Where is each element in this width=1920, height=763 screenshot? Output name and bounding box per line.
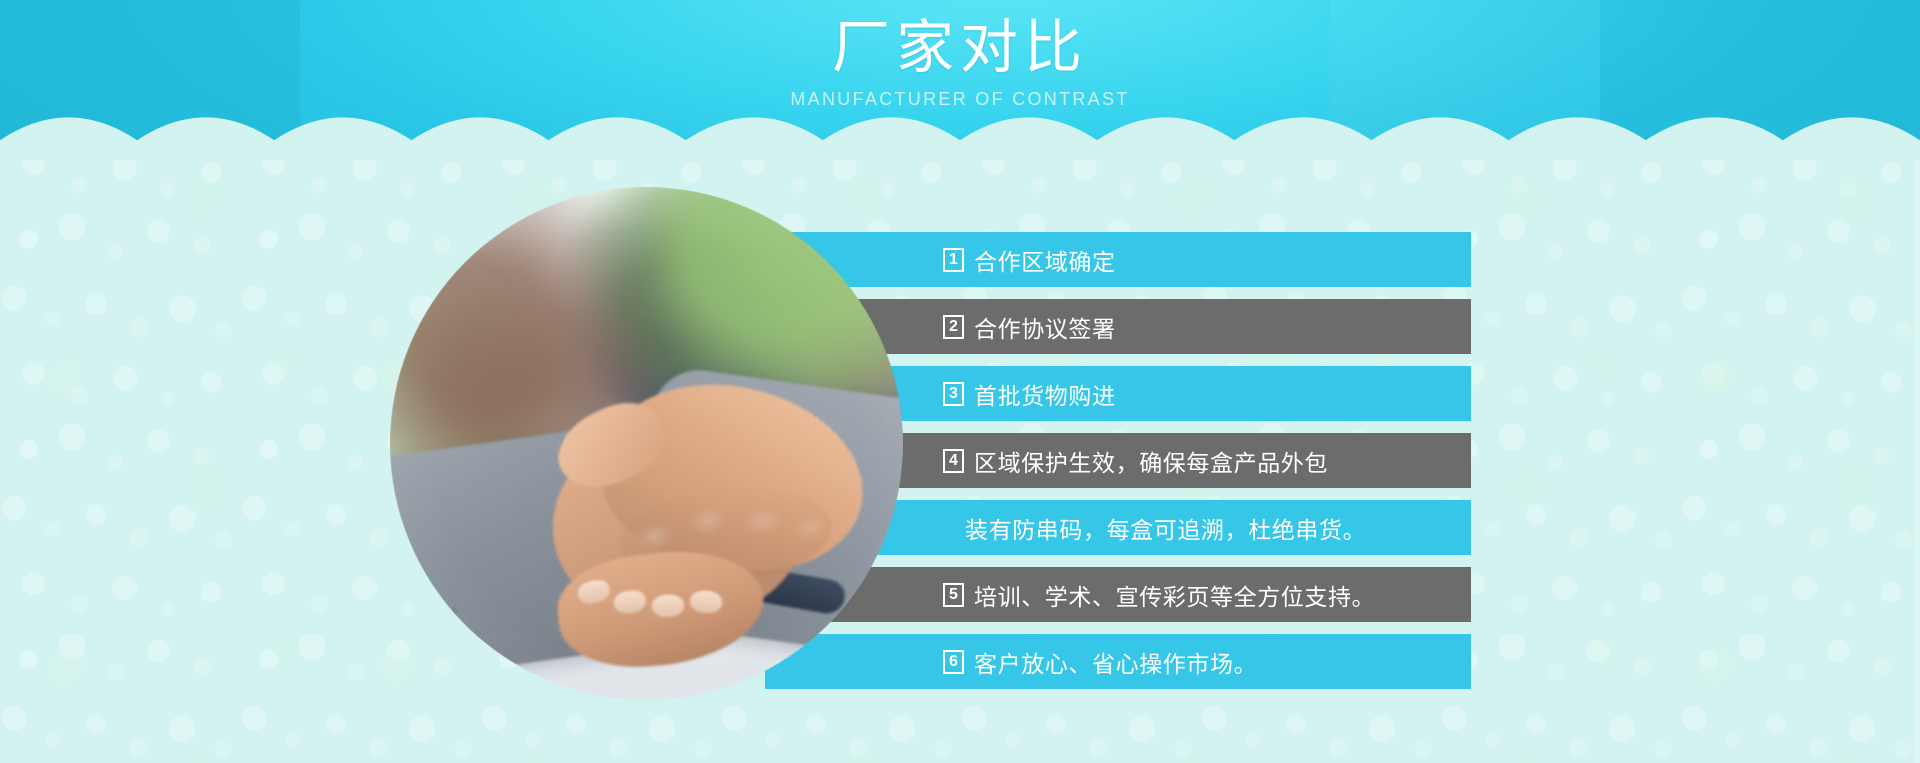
step-text: 培训、学术、宣传彩页等全方位支持。 <box>974 578 1375 612</box>
wave-divider <box>0 108 1920 160</box>
step-text: 合作协议签署 <box>974 310 1116 344</box>
right-edge-band <box>1914 148 1920 763</box>
step-text: 合作区域确定 <box>974 243 1116 277</box>
photo-vignette <box>390 187 903 700</box>
step-number-badge: 4 <box>943 449 964 473</box>
step-text: 装有防串码，每盒可追溯，杜绝串货。 <box>965 511 1366 545</box>
step-number-badge: 1 <box>943 248 964 272</box>
step-number-badge: 5 <box>943 583 964 607</box>
step-text: 客户放心、省心操作市场。 <box>974 645 1257 679</box>
step-text: 首批货物购进 <box>974 377 1116 411</box>
promo-banner-page: 厂家对比 MANUFACTURER OF CONTRAST <box>0 0 1920 763</box>
step-number-badge: 2 <box>943 315 964 339</box>
header-title-block: 厂家对比 MANUFACTURER OF CONTRAST <box>0 18 1920 110</box>
step-number-badge: 3 <box>943 382 964 406</box>
step-number-badge: 6 <box>943 650 964 674</box>
handshake-photo <box>390 187 903 700</box>
page-title: 厂家对比 <box>0 18 1920 79</box>
step-text: 区域保护生效，确保每盒产品外包 <box>974 444 1328 478</box>
page-subtitle: MANUFACTURER OF CONTRAST <box>0 89 1920 110</box>
